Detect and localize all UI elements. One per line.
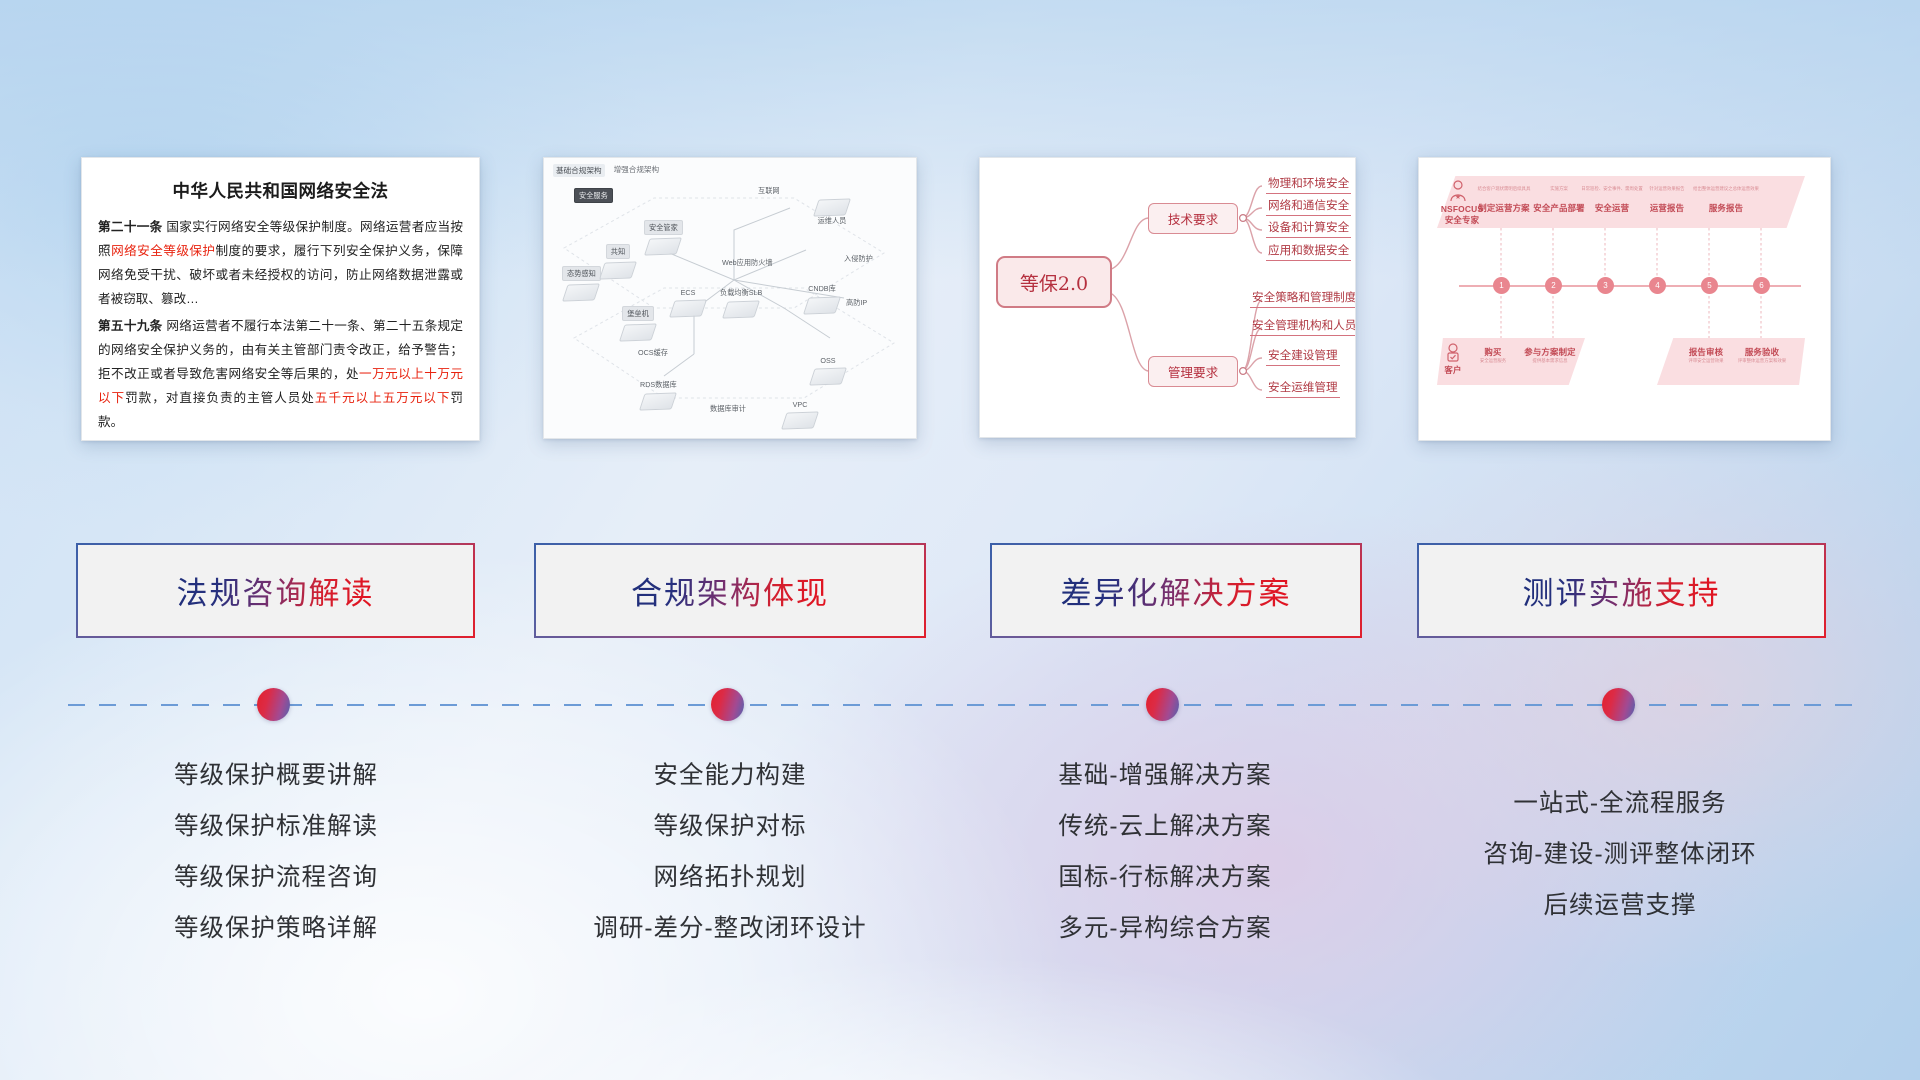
- law-article-59: 第五十九条 网络运营者不履行本法第二十一条、第二十五条规定的网络安全保护义务的，…: [98, 314, 463, 434]
- arch-box-icon: [619, 323, 657, 341]
- list-item: 基础-增强解决方案: [965, 750, 1365, 801]
- mindmap-leaf-ops-mgmt: 安全运维管理: [1266, 379, 1340, 398]
- section-title-frame: 差异化解决方案: [990, 543, 1362, 638]
- arch-node-shared: 共知: [602, 244, 634, 279]
- arch-node-ecs: ECS: [672, 288, 704, 317]
- arch-node-vpc: VPC: [784, 400, 816, 429]
- section-items-1: 等级保护概要讲解 等级保护标准解读 等级保护流程咨询 等级保护策略详解: [76, 750, 476, 954]
- section-title-inner: 测评实施支持: [1419, 545, 1825, 637]
- section-items-3: 基础-增强解决方案 传统-云上解决方案 国标-行标解决方案 多元-异构综合方案: [965, 750, 1365, 954]
- preview-card-row: 中华人民共和国网络安全法 第二十一条 国家实行网络安全等级保护制度。网络运营者应…: [0, 150, 1920, 440]
- mindmap-collapse-toggle-tech: [1240, 215, 1247, 222]
- section-title-row: 法规咨询解读 合规架构体现 差异化解决方案 测评实施支持: [0, 543, 1920, 640]
- arch-node-security-butler: 安全管家: [644, 220, 683, 255]
- section-title-frame: 法规咨询解读: [76, 543, 475, 638]
- roadmap-marker-1: 1: [1493, 277, 1510, 294]
- mindmap-leaf-org-personnel: 安全管理机构和人员: [1250, 317, 1356, 336]
- arch-box-icon: [669, 299, 707, 317]
- roadmap-step-5: 给出整体运营建议之总体运营效果 服务报告: [1687, 186, 1765, 214]
- arch-box-icon: [722, 300, 760, 318]
- mindmap-leaf-construction-mgmt: 安全建设管理: [1266, 347, 1340, 366]
- section-title-inner: 合规架构体现: [536, 545, 925, 637]
- mindmap-collapse-toggle-mgmt: [1240, 368, 1247, 375]
- roadmap-marker-5: 5: [1701, 277, 1718, 294]
- preview-card-law[interactable]: 中华人民共和国网络安全法 第二十一条 国家实行网络安全等级保护制度。网络运营者应…: [81, 157, 480, 441]
- svg-text:★: ★: [1455, 193, 1461, 201]
- arch-box-icon: [599, 261, 637, 279]
- list-item: 等级保护对标: [530, 801, 930, 852]
- mindmap-branch-management[interactable]: 管理要求: [1148, 356, 1238, 387]
- list-item: 等级保护流程咨询: [76, 852, 476, 903]
- list-item: 多元-异构综合方案: [965, 903, 1365, 954]
- law-article-21-label: 第二十一条: [98, 220, 163, 234]
- list-item: 安全能力构建: [530, 750, 930, 801]
- preview-card-roadmap[interactable]: ★ NSFOCUS 安全专家 结合客户现状需明后续具具 制定运营方案 实施方案 …: [1418, 157, 1831, 441]
- timeline-dot-4[interactable]: [1602, 688, 1635, 721]
- list-item: 一站式-全流程服务: [1410, 778, 1830, 829]
- section-title-frame: 测评实施支持: [1417, 543, 1826, 638]
- arch-node-ocs-cache: OCS缓存: [638, 348, 668, 358]
- section-title-inner: 法规咨询解读: [78, 545, 474, 637]
- timeline-dashed-line: [68, 704, 1854, 706]
- section-items-2: 安全能力构建 等级保护对标 网络拓扑规划 调研-差分-整改闭环设计: [530, 750, 930, 954]
- arch-node-rds: RDS数据库: [640, 380, 677, 410]
- section-title-text-1: 法规咨询解读: [177, 568, 375, 613]
- section-title-text-3: 差异化解决方案: [1061, 568, 1292, 613]
- roadmap-marker-2: 2: [1545, 277, 1562, 294]
- arch-node-bastion-host: 堡垒机: [622, 306, 654, 341]
- section-title-box-2[interactable]: 合规架构体现: [534, 543, 926, 638]
- section-item-lists: 等级保护概要讲解 等级保护标准解读 等级保护流程咨询 等级保护策略详解 安全能力…: [0, 740, 1920, 960]
- arch-node-slb: 负载均衡SLB: [720, 288, 762, 318]
- law-title: 中华人民共和国网络安全法: [98, 178, 463, 203]
- list-item: 传统-云上解决方案: [965, 801, 1365, 852]
- mindmap-branch-technical[interactable]: 技术要求: [1148, 203, 1238, 234]
- law-article-59-highlight-2: 五千元以上五万元以下: [315, 391, 451, 405]
- arch-node-ips: 入侵防护: [844, 254, 873, 264]
- timeline: [0, 683, 1920, 727]
- list-item: 等级保护概要讲解: [76, 750, 476, 801]
- arch-box-icon: [809, 367, 847, 385]
- section-title-frame: 合规架构体现: [534, 543, 926, 638]
- law-article-59-label: 第五十九条: [98, 319, 163, 333]
- arch-box-icon: [803, 296, 841, 314]
- timeline-dot-3[interactable]: [1146, 688, 1179, 721]
- roadmap-customer-step-1: 购买 安全运营服务: [1471, 346, 1515, 364]
- law-article-59-text-b: 罚款，对直接负责的主管人员处: [125, 391, 315, 405]
- roadmap-marker-6: 6: [1753, 277, 1770, 294]
- mindmap-leaf-device-compute: 设备和计算安全: [1266, 219, 1351, 238]
- section-title-box-3[interactable]: 差异化解决方案: [990, 543, 1362, 638]
- law-article-21: 第二十一条 国家实行网络安全等级保护制度。网络运营者应当按照网络安全等级保护制度…: [98, 215, 463, 311]
- roadmap-marker-4: 4: [1649, 277, 1666, 294]
- customer-label: 客户: [1437, 364, 1469, 376]
- list-item: 调研-差分-整改闭环设计: [530, 903, 930, 954]
- list-item: 等级保护标准解读: [76, 801, 476, 852]
- section-title-box-4[interactable]: 测评实施支持: [1417, 543, 1826, 638]
- arch-box-icon: [644, 237, 682, 255]
- roadmap-customer-step-3: 报告审核 评审安全运营效果: [1677, 346, 1735, 364]
- mindmap-leaf-app-data: 应用和数据安全: [1266, 242, 1351, 261]
- roadmap-customer-step-4: 服务验收 评审整体运营方案和效果: [1731, 346, 1793, 364]
- list-item: 咨询-建设-测评整体闭环: [1410, 829, 1830, 880]
- roadmap-marker-3: 3: [1597, 277, 1614, 294]
- slide-canvas: 中华人民共和国网络安全法 第二十一条 国家实行网络安全等级保护制度。网络运营者应…: [0, 0, 1920, 1080]
- mindmap-diagram: 等保2.0 技术要求 物理和环境安全 网络和通信安全 设备和计算安全 应用和数据…: [980, 158, 1355, 437]
- mindmap-root-node[interactable]: 等保2.0: [996, 256, 1112, 308]
- arch-box-icon: [781, 411, 819, 429]
- mindmap-leaf-network-comm: 网络和通信安全: [1266, 197, 1351, 216]
- timeline-dot-1[interactable]: [257, 688, 290, 721]
- timeline-dot-2[interactable]: [711, 688, 744, 721]
- list-item: 网络拓扑规划: [530, 852, 930, 903]
- law-document: 中华人民共和国网络安全法 第二十一条 国家实行网络安全等级保护制度。网络运营者应…: [82, 158, 479, 440]
- arch-node-security-service: 安全服务: [574, 188, 613, 203]
- arch-node-ops-staff: 运维人员: [816, 196, 848, 226]
- mindmap-leaf-policy-system: 安全策略和管理制度: [1250, 289, 1356, 308]
- section-title-box-1[interactable]: 法规咨询解读: [76, 543, 475, 638]
- arch-box-icon: [813, 198, 851, 216]
- arch-box-icon: [639, 392, 677, 410]
- mindmap-leaf-physical-env: 物理和环境安全: [1266, 175, 1351, 194]
- section-title-inner: 差异化解决方案: [992, 545, 1361, 637]
- list-item: 后续运营支撑: [1410, 880, 1830, 931]
- arch-node-situation-awareness: 态势感知: [562, 266, 601, 301]
- arch-box-icon: [562, 283, 600, 301]
- arch-node-internet: 互联网: [758, 186, 780, 196]
- arch-node-oss: OSS: [812, 356, 844, 385]
- arch-node-anti-ddos: 高防IP: [846, 298, 867, 308]
- preview-card-mindmap[interactable]: 等保2.0 技术要求 物理和环境安全 网络和通信安全 设备和计算安全 应用和数据…: [979, 157, 1356, 438]
- arch-node-db-audit: 数据库审计: [710, 404, 746, 414]
- law-article-21-highlight: 网络安全等级保护: [111, 244, 215, 258]
- architecture-diagram: 基础合规架构 增强合规架构: [544, 158, 916, 438]
- section-items-4: 一站式-全流程服务 咨询-建设-测评整体闭环 后续运营支撑: [1410, 778, 1830, 931]
- list-item: 国标-行标解决方案: [965, 852, 1365, 903]
- section-title-text-2: 合规架构体现: [631, 568, 829, 613]
- roadmap-customer-step-2: 参与方案制定 提供基本需求信息: [1519, 346, 1581, 364]
- arch-node-waf: Web应用防火墙: [722, 258, 773, 268]
- arch-node-cndb: CNDB库: [806, 284, 838, 314]
- preview-card-architecture[interactable]: 基础合规架构 增强合规架构: [543, 157, 917, 439]
- list-item: 等级保护策略详解: [76, 903, 476, 954]
- roadmap-diagram: ★ NSFOCUS 安全专家 结合客户现状需明后续具具 制定运营方案 实施方案 …: [1419, 158, 1830, 440]
- section-title-text-4: 测评实施支持: [1523, 568, 1721, 613]
